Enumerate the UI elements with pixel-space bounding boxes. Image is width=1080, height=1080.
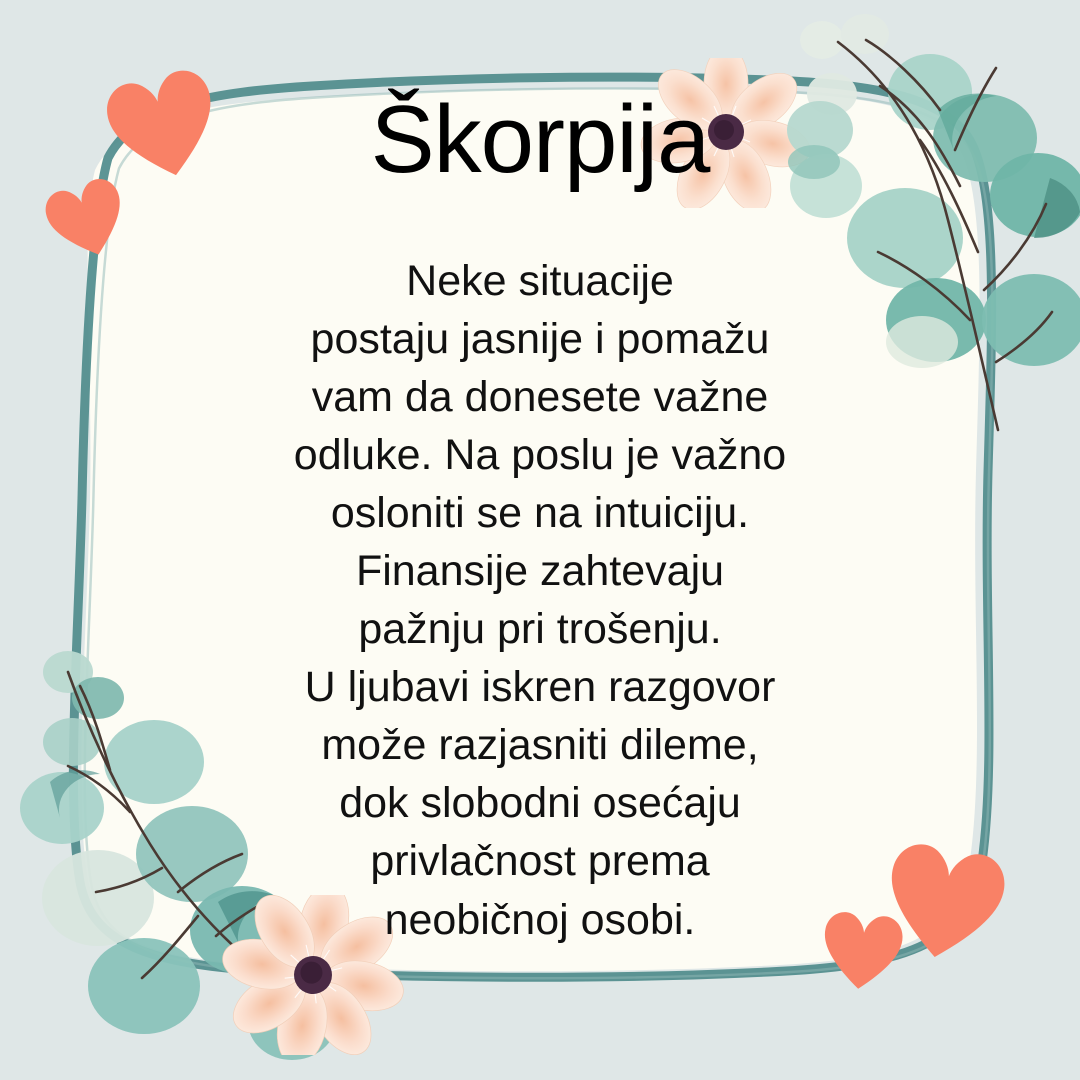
leaf bbox=[800, 21, 844, 59]
leaf bbox=[42, 850, 154, 946]
leaf-group-top-right bbox=[787, 14, 1080, 430]
leaf bbox=[841, 14, 889, 54]
leaf bbox=[788, 145, 840, 179]
heart-shape bbox=[40, 174, 134, 266]
body-line: osloniti se na intuiciju. bbox=[0, 484, 1080, 542]
leaf bbox=[982, 274, 1080, 366]
anemone-flower-bottom bbox=[218, 895, 408, 1055]
leaf bbox=[886, 316, 958, 368]
petal-group bbox=[218, 895, 408, 1055]
leaf bbox=[88, 938, 200, 1034]
flower-center-inner bbox=[714, 120, 734, 140]
zodiac-quote-card: Škorpija Neke situacije postaju jasnije … bbox=[0, 0, 1080, 1080]
heart-shape bbox=[819, 910, 904, 993]
leaf bbox=[847, 188, 963, 288]
heart-bottom-small bbox=[814, 904, 911, 1001]
leaf bbox=[72, 677, 124, 719]
body-line: Finansije zahtevaju bbox=[0, 542, 1080, 600]
eucalyptus-branch-top-right bbox=[770, 0, 1080, 440]
leaf bbox=[43, 718, 101, 766]
heart-shape bbox=[101, 65, 226, 188]
